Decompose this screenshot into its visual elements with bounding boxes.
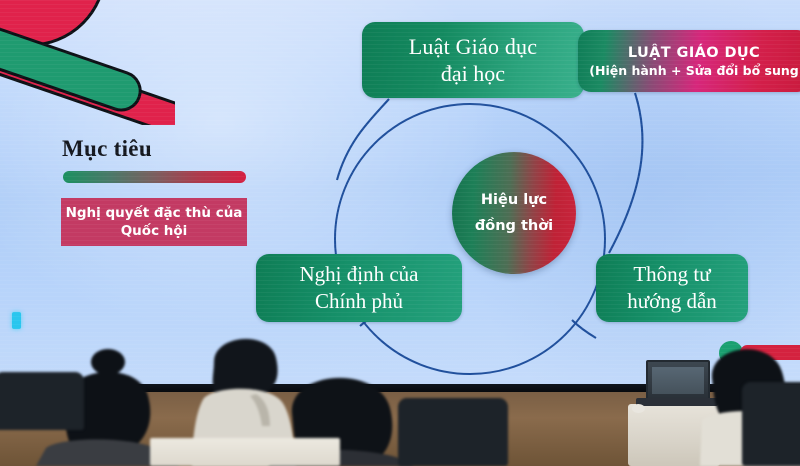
node-line-2: đồng thời <box>475 213 553 239</box>
chair-back-center <box>398 398 508 466</box>
front-table <box>150 438 340 466</box>
node-line-1: Nghị quyết đặc thù của <box>66 204 243 222</box>
node-line-1: Thông tư <box>633 261 710 288</box>
node-line-1: Luật Giáo dục <box>409 33 537 61</box>
node-line-1: LUẬT GIÁO DỤC <box>628 45 760 61</box>
page-title-muc-tieu: Mục tiêu <box>62 136 152 162</box>
node-luat-giao-duc-dai-hoc: Luật Giáo dục đại học <box>362 22 584 98</box>
node-nghi-quyet-quoc-hoi: Nghị quyết đặc thù của Quốc hội <box>61 198 247 246</box>
node-luat-giao-duc: LUẬT GIÁO DỤC (Hiện hành + Sửa đổi bổ su… <box>578 30 800 92</box>
chair-back-left <box>0 372 84 430</box>
slide-surface: Mục tiêu Nghị quyết đặc thù của Quốc hội… <box>0 0 800 386</box>
screen-edge-marker <box>12 312 21 329</box>
chair-back-right <box>742 382 800 466</box>
computer-mouse <box>632 404 645 413</box>
node-line-2: hướng dẫn <box>627 288 717 315</box>
node-line-2: Quốc hội <box>121 222 188 240</box>
node-line-1: Hiệu lực <box>481 187 547 213</box>
gradient-divider-bar <box>63 171 246 183</box>
node-line-2: đại học <box>441 60 505 88</box>
node-line-2: (Hiện hành + Sửa đổi bổ sung <box>589 63 798 78</box>
node-hieu-luc-dong-thoi: Hiệu lực đồng thời <box>452 152 576 274</box>
node-thong-tu-huong-dan: Thông tư hướng dẫn <box>596 254 748 322</box>
corner-decoration-graphic <box>0 0 175 125</box>
node-nghi-dinh-chinh-phu: Nghị định của Chính phủ <box>256 254 462 322</box>
photo-of-projected-slide: Mục tiêu Nghị quyết đặc thù của Quốc hội… <box>0 0 800 466</box>
node-line-1: Nghị định của <box>300 261 419 288</box>
node-line-2: Chính phủ <box>315 288 403 315</box>
